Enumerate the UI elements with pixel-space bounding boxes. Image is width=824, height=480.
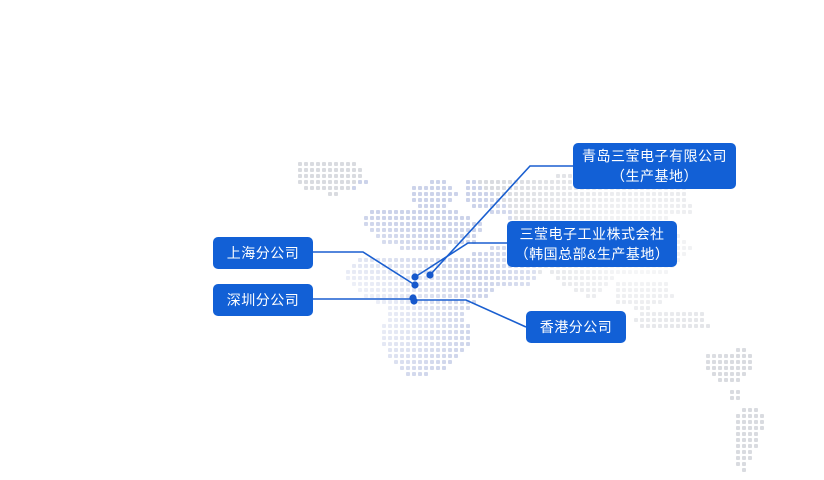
label-box-hongkong[interactable]: 香港分公司: [526, 311, 626, 343]
world-map-infographic: 青岛三莹电子有限公司（生产基地）三莹电子工业株式会社（韩国总部&生产基地）上海分…: [0, 0, 824, 480]
connector-lines: [0, 0, 824, 480]
label-text-korea-line1: 三莹电子工业株式会社: [520, 224, 665, 244]
label-box-shanghai[interactable]: 上海分公司: [213, 237, 313, 269]
shanghai-link: [313, 252, 415, 285]
location-dot-hongkong[interactable]: [410, 297, 417, 304]
label-text-shenzhen-line1: 深圳分公司: [227, 290, 300, 310]
label-box-qingdao[interactable]: 青岛三莹电子有限公司（生产基地）: [573, 143, 736, 189]
label-text-qingdao-line1: 青岛三莹电子有限公司: [582, 146, 727, 166]
label-text-hongkong-line1: 香港分公司: [540, 317, 613, 337]
label-box-shenzhen[interactable]: 深圳分公司: [213, 284, 313, 316]
hongkong-link: [414, 300, 526, 327]
location-dot-qingdao[interactable]: [426, 271, 433, 278]
location-dot-korea[interactable]: [411, 273, 418, 280]
label-text-shanghai-line1: 上海分公司: [227, 243, 300, 263]
label-box-korea[interactable]: 三莹电子工业株式会社（韩国总部&生产基地）: [507, 221, 677, 267]
label-text-qingdao-line2: （生产基地）: [611, 166, 698, 186]
location-dot-shanghai[interactable]: [411, 281, 418, 288]
label-text-korea-line2: （韩国总部&生产基地）: [515, 244, 670, 264]
